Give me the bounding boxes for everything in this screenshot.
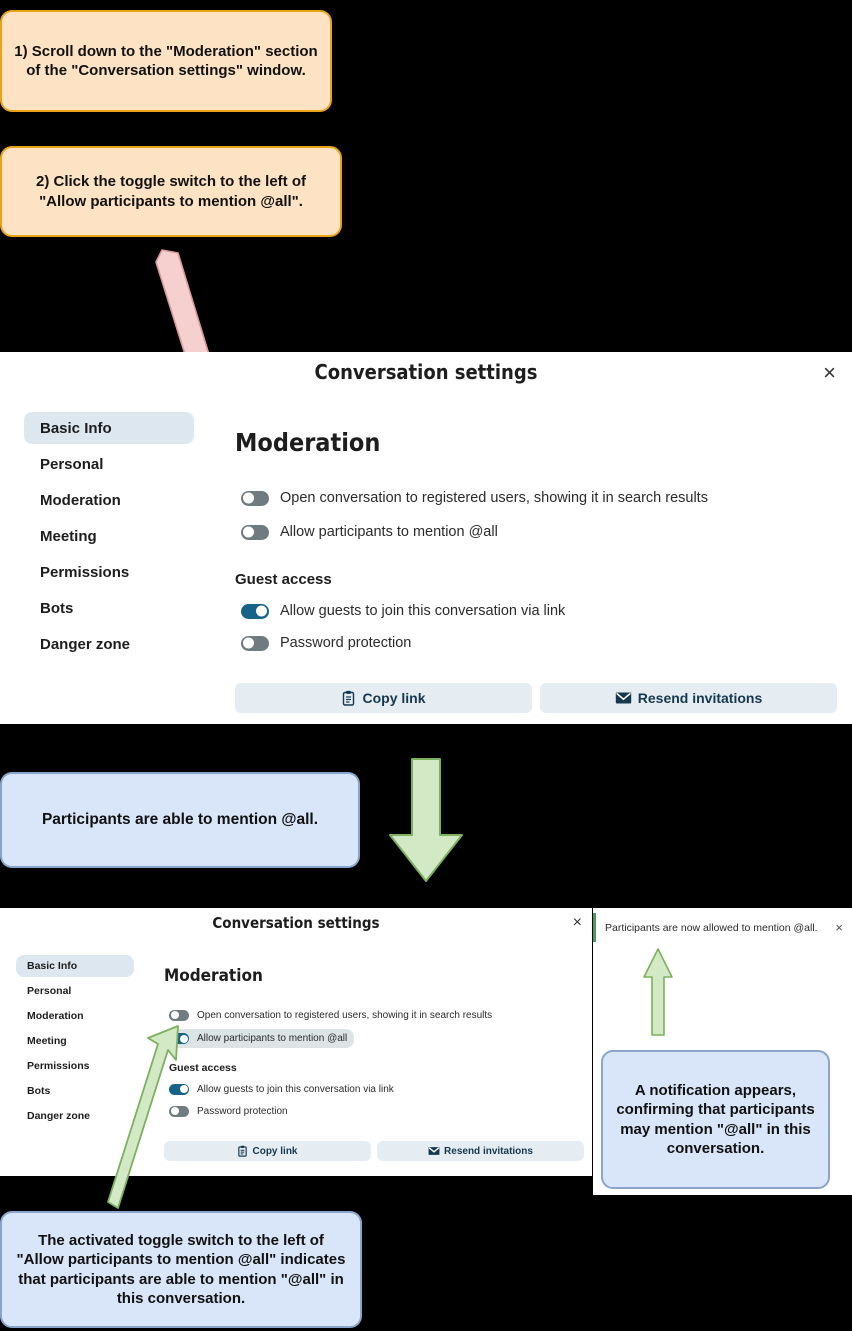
toggle-label: Allow guests to join this conversation v… [280, 603, 565, 619]
sidebar-item-basic-info[interactable]: Basic Info [24, 412, 194, 444]
sidebar-item-label: Meeting [27, 1035, 67, 1047]
dialog-title: Conversation settings [0, 360, 852, 384]
sidebar-item-label: Bots [40, 600, 73, 617]
clipboard-icon [237, 1145, 248, 1157]
copy-link-label: Copy link [252, 1146, 297, 1157]
toggle-mention-all[interactable] [241, 525, 269, 540]
toggle-row-open-conversation[interactable]: Open conversation to registered users, s… [235, 485, 840, 511]
sidebar-item-personal[interactable]: Personal [24, 448, 194, 480]
toggle-label: Password protection [280, 635, 411, 651]
green-up-arrow-notification-icon [642, 947, 674, 1037]
toggle-row-password-protection-after[interactable]: Password protection [164, 1102, 584, 1120]
section-title-moderation: Moderation [235, 428, 840, 457]
subsection-title-guest-access-after: Guest access [169, 1062, 584, 1074]
toggle-label: Allow participants to mention @all [197, 1033, 347, 1044]
sidebar-item-label: Bots [27, 1085, 50, 1097]
clipboard-icon [341, 690, 356, 706]
callout-step-1-text: 1) Scroll down to the "Moderation" secti… [14, 42, 318, 80]
dialog-title-after: Conversation settings [0, 914, 592, 932]
section-title-moderation-after: Moderation [164, 966, 584, 986]
copy-link-button-after[interactable]: Copy link [164, 1141, 371, 1161]
notification-toast: Participants are now allowed to mention … [593, 913, 852, 942]
callout-step-2-text: 2) Click the toggle switch to the left o… [14, 172, 328, 210]
dialog-close-icon[interactable]: × [823, 362, 836, 384]
toggle-row-guest-link-after[interactable]: Allow guests to join this conversation v… [164, 1080, 584, 1098]
sidebar-item-moderation[interactable]: Moderation [24, 484, 194, 516]
callout-step-2: 2) Click the toggle switch to the left o… [0, 146, 342, 237]
resend-invitations-button-after[interactable]: Resend invitations [377, 1141, 584, 1161]
resend-invitations-button[interactable]: Resend invitations [540, 683, 837, 713]
subsection-title-guest-access: Guest access [235, 571, 840, 588]
toggle-open-conversation-after[interactable] [169, 1010, 189, 1021]
green-diagonal-arrow-icon [100, 1020, 190, 1215]
envelope-icon [615, 691, 632, 705]
toggle-password-protection[interactable] [241, 636, 269, 651]
toggle-row-guest-link[interactable]: Allow guests to join this conversation v… [235, 598, 840, 624]
dialog-content: Moderation Open conversation to register… [235, 428, 840, 656]
sidebar-item-label: Basic Info [27, 960, 77, 972]
callout-step-1: 1) Scroll down to the "Moderation" secti… [0, 10, 332, 112]
sidebar-item-label: Personal [40, 456, 103, 473]
callout-result-toggle: The activated toggle switch to the left … [0, 1211, 362, 1328]
sidebar-item-label: Personal [27, 985, 71, 997]
toggle-label: Allow participants to mention @all [280, 524, 498, 540]
green-down-arrow-icon [386, 757, 466, 885]
toggle-row-mention-all[interactable]: Allow participants to mention @all [235, 519, 840, 545]
callout-result-notification: A notification appears, confirming that … [601, 1050, 830, 1189]
toggle-row-password-protection[interactable]: Password protection [235, 630, 840, 656]
toggle-label: Open conversation to registered users, s… [197, 1010, 492, 1021]
callout-result-before-text: Participants are able to mention @all. [42, 810, 318, 830]
callout-result-toggle-text: The activated toggle switch to the left … [14, 1231, 348, 1308]
sidebar-item-label: Permissions [40, 564, 129, 581]
sidebar-item-basic-info-after[interactable]: Basic Info [16, 955, 134, 977]
sidebar-item-permissions[interactable]: Permissions [24, 556, 194, 588]
callout-result-before: Participants are able to mention @all. [0, 772, 360, 868]
toggle-guest-link[interactable] [241, 604, 269, 619]
sidebar-item-danger-zone[interactable]: Danger zone [24, 628, 194, 660]
envelope-icon [428, 1146, 440, 1156]
dialog-content-after: Moderation Open conversation to register… [164, 966, 584, 1120]
copy-link-label: Copy link [362, 690, 425, 706]
toggle-open-conversation[interactable] [241, 491, 269, 506]
callout-result-notification-text: A notification appears, confirming that … [615, 1081, 816, 1158]
sidebar-item-bots[interactable]: Bots [24, 592, 194, 624]
toggle-label: Open conversation to registered users, s… [280, 490, 708, 506]
resend-invitations-label: Resend invitations [638, 690, 762, 706]
sidebar-item-meeting[interactable]: Meeting [24, 520, 194, 552]
toggle-label: Allow guests to join this conversation v… [197, 1084, 394, 1095]
toggle-row-open-conversation-after[interactable]: Open conversation to registered users, s… [164, 1006, 584, 1024]
copy-link-button[interactable]: Copy link [235, 683, 532, 713]
sidebar-item-personal-after[interactable]: Personal [16, 980, 134, 1002]
dialog-sidebar: Basic Info Personal Moderation Meeting P… [24, 412, 194, 660]
conversation-settings-dialog: Conversation settings × Basic Info Perso… [0, 352, 852, 724]
dialog-close-icon-after[interactable]: × [573, 915, 582, 931]
notification-text: Participants are now allowed to mention … [605, 922, 829, 934]
toggle-row-mention-all-after[interactable]: Allow participants to mention @all [164, 1029, 354, 1048]
dialog-action-buttons-after: Copy link Resend invitations [164, 1141, 584, 1161]
sidebar-item-label: Moderation [40, 492, 121, 509]
sidebar-item-label: Danger zone [40, 636, 130, 653]
sidebar-item-label: Moderation [27, 1010, 84, 1022]
toggle-label: Password protection [197, 1106, 288, 1117]
notification-close-icon[interactable]: × [835, 921, 843, 934]
sidebar-item-label: Meeting [40, 528, 97, 545]
sidebar-item-label: Permissions [27, 1060, 89, 1072]
conversation-settings-dialog-after: Conversation settings × Basic Info Perso… [0, 908, 592, 1176]
resend-invitations-label: Resend invitations [444, 1146, 533, 1157]
sidebar-item-label: Basic Info [40, 420, 112, 437]
sidebar-item-label: Danger zone [27, 1110, 90, 1122]
dialog-action-buttons: Copy link Resend invitations [235, 683, 838, 713]
